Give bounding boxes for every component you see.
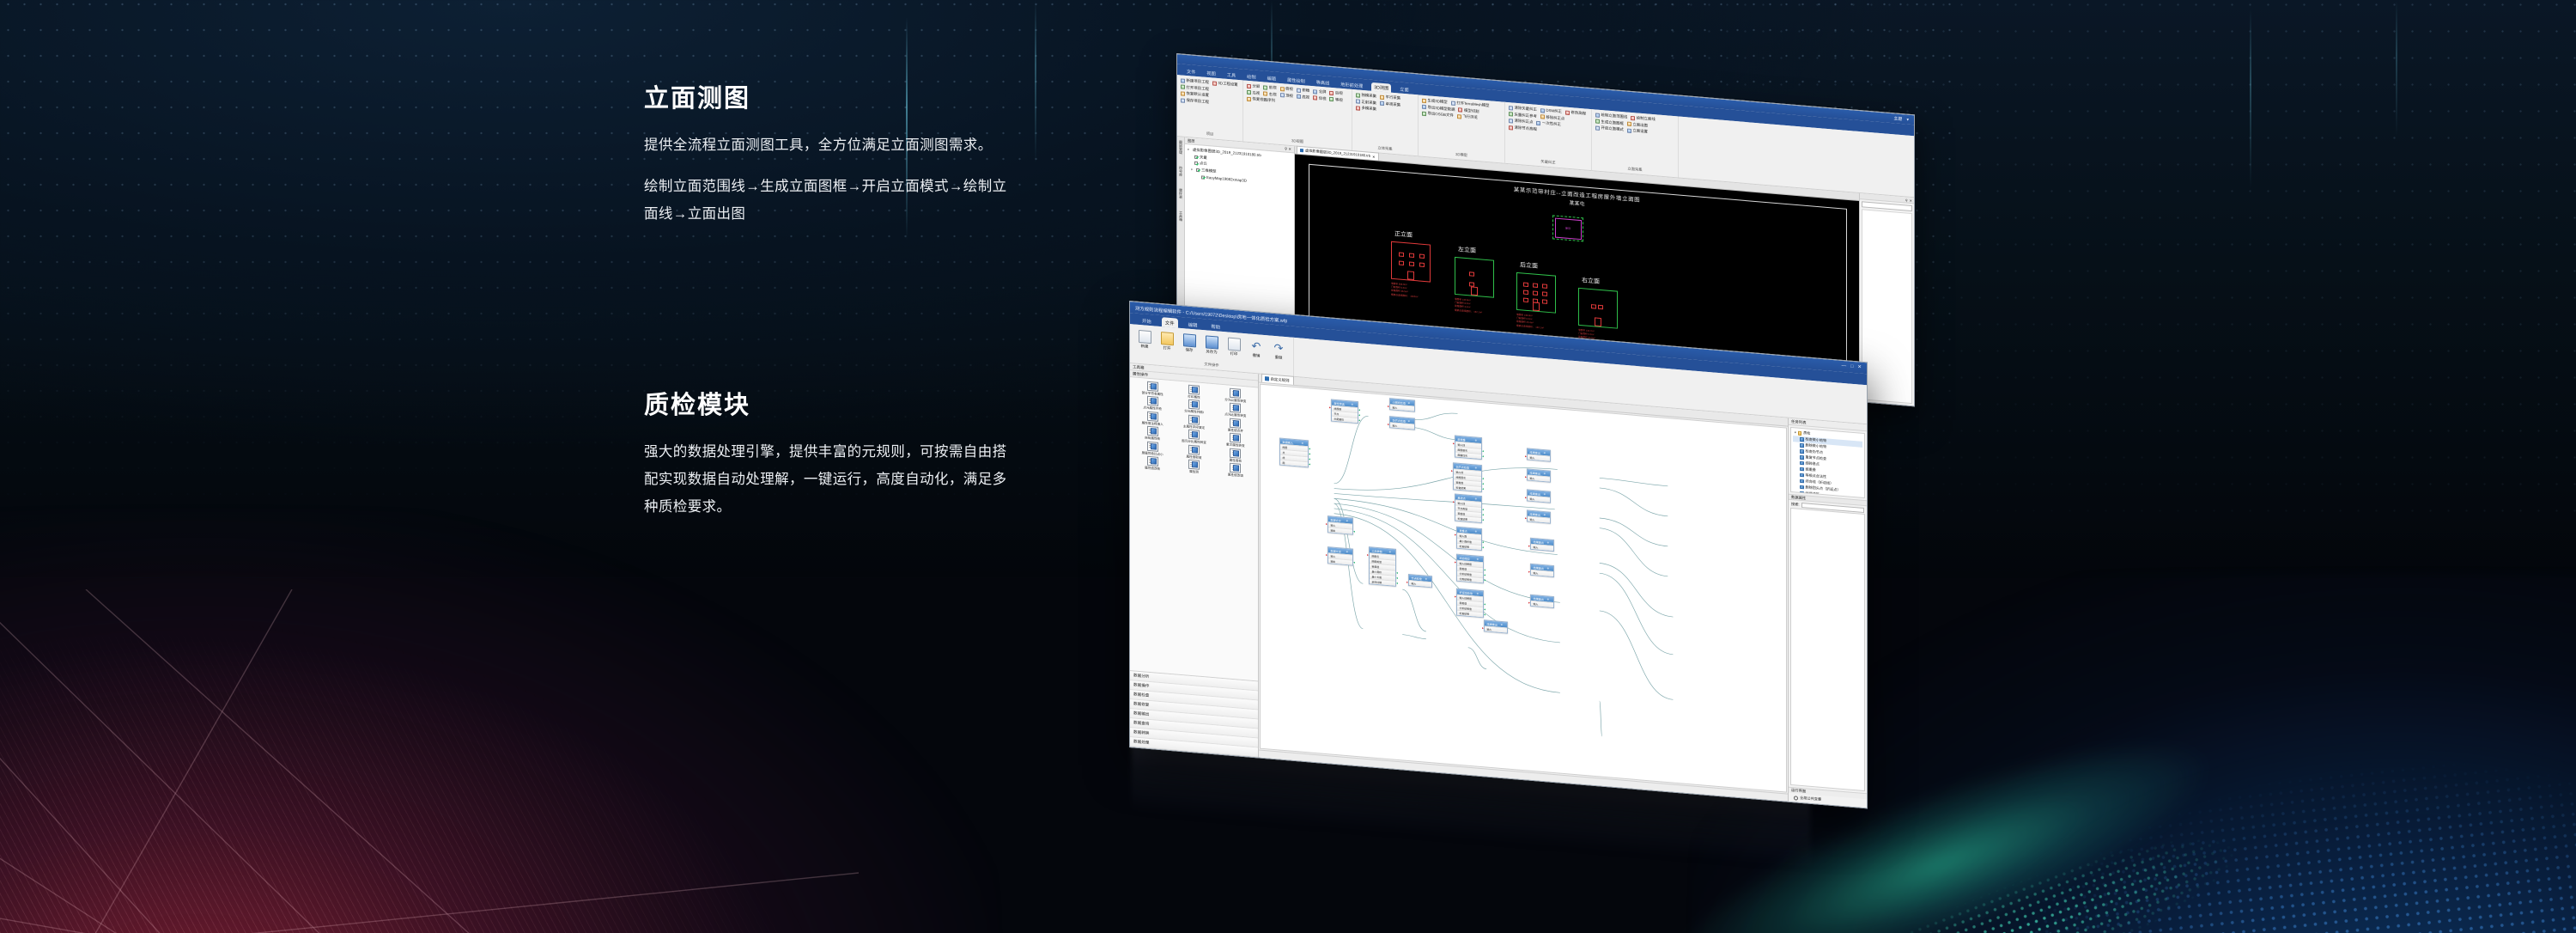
qc-graph-output-port[interactable] <box>1358 409 1360 411</box>
qc-graph-edge <box>1600 563 1674 617</box>
qc-file-button-label: 打开 <box>1163 345 1171 351</box>
qc-graph-edge <box>1600 518 1668 546</box>
qc-graph-output-port[interactable] <box>1482 455 1484 457</box>
qc-graph-edge <box>1402 635 1426 639</box>
close-icon[interactable]: ⊗ <box>1477 592 1479 595</box>
qc-graph-output-port[interactable] <box>1358 419 1360 421</box>
qc-graph-output-port[interactable] <box>1358 414 1360 416</box>
qc-graph-node[interactable]: 结果输出⊗输入 <box>1530 564 1554 577</box>
qc-graph-port-label: 输入 <box>1530 517 1535 521</box>
light-streak <box>2250 9 2251 189</box>
qc-graph-node[interactable]: 结果输出⊗输入 <box>1484 619 1508 633</box>
close-icon[interactable]: ⊗ <box>1475 466 1477 469</box>
qc-graph-node[interactable]: 数据合并⊗输入输出 <box>1327 515 1353 534</box>
file-arrow-icon: ↷ <box>1273 341 1285 355</box>
qc-graph-port-label: 输入 <box>1534 546 1539 549</box>
qc-graph-node[interactable]: 结果输出⊗输入 <box>1527 448 1551 461</box>
qc-run-item-label: 全局公共变量 <box>1800 796 1821 802</box>
qc-window[interactable]: 测方规则流程编辑软件 - C:/Users/19072\Desktop\房地一体… <box>1129 301 1868 808</box>
qc-graph-node[interactable]: 结果输出⊗输入 <box>1527 509 1551 523</box>
close-icon[interactable]: ⊗ <box>1352 402 1353 406</box>
qc-graph-output-port[interactable] <box>1482 541 1484 543</box>
qc-graph-edge <box>1334 498 1364 583</box>
qc-graph-node-port-row[interactable]: 面属性名 <box>1455 452 1481 459</box>
attribute-tool-icon <box>1188 385 1200 395</box>
close-icon[interactable]: ✕ <box>1857 365 1862 370</box>
cad-ribbon-item-label: 俯视 <box>1285 87 1293 93</box>
checkbox[interactable] <box>1196 168 1200 172</box>
qc-toolbox-column: 工具箱 属性操作 部分字符名属性打印属性分元公属性转变点元属性共检分元属性共精I… <box>1130 363 1259 757</box>
qc-graph-node-port-row[interactable]: 输入 <box>1531 544 1553 551</box>
qc-graph-node[interactable]: 重叠点⊗输入面最小面积值检查结果 <box>1456 527 1482 551</box>
qc-graph-output-port[interactable] <box>1482 509 1484 510</box>
cad-ribbon-item-label: 底视 <box>1302 95 1309 101</box>
rule-icon <box>1800 455 1804 460</box>
close-icon[interactable]: ⊗ <box>1346 550 1348 553</box>
qc-graph-node[interactable]: 公共参数⊗图层名图层类型容差值最小面积最小长度采样间隔 <box>1369 546 1396 587</box>
qc-graph-node[interactable]: 数据过滤⊗输入输出 <box>1327 546 1353 565</box>
qc-graph-node[interactable]: 结果输出⊗输入 <box>1527 468 1551 482</box>
close-icon[interactable]: ⊗ <box>1547 540 1549 544</box>
cad-elevation-window <box>1542 284 1547 288</box>
cad-elevation-label: 右立面 <box>1582 276 1600 286</box>
qc-tool-属性值改填[interactable]: 属性值改填 <box>1215 462 1256 479</box>
cad-ribbon-item-label: 后视 <box>1335 90 1343 96</box>
close-icon[interactable]: ⊗ <box>1547 566 1549 570</box>
qc-graph-output-port[interactable] <box>1396 577 1398 579</box>
qc-graph-output-port[interactable] <box>1309 458 1310 460</box>
maximize-icon[interactable]: □ <box>1850 364 1853 369</box>
qc-graph-input-port[interactable] <box>1528 571 1530 573</box>
qc-graph-port-label: 采样间隔 <box>1372 580 1382 584</box>
close-icon[interactable]: ⊗ <box>1544 513 1546 516</box>
cad-ribbon-item[interactable]: 俯瞰 <box>1297 88 1309 95</box>
cad-elevation-window <box>1409 253 1414 257</box>
attribute-tool-icon <box>1188 460 1200 470</box>
qc-graph-output-port[interactable] <box>1482 450 1484 452</box>
cad-ribbon-item-label: 全屏 <box>1319 89 1327 95</box>
qc-graph-output-port[interactable] <box>1482 483 1484 485</box>
attribute-tool-icon <box>1188 399 1200 410</box>
qc-graph-input-port[interactable] <box>1455 534 1456 535</box>
close-icon[interactable]: ✕ <box>1372 154 1375 158</box>
pin-icon[interactable]: ⚲ <box>1905 198 1908 202</box>
qc-graph-node-port-row[interactable]: 输入 <box>1528 516 1550 523</box>
tool-icon <box>1565 110 1570 114</box>
checkbox[interactable] <box>1201 175 1205 179</box>
qc-graph-node[interactable]: 属性筛选⊗线图层节点头尾属性 <box>1331 399 1358 424</box>
rule-icon <box>1800 473 1804 478</box>
qc-graph-output-port[interactable] <box>1484 574 1485 576</box>
cad-ribbon-item[interactable]: 清除节点高程 <box>1509 125 1537 132</box>
cad-ribbon-item[interactable]: 飞行浏览 <box>1457 113 1478 121</box>
cad-ribbon-item[interactable]: 顶视 <box>1280 93 1293 100</box>
close-icon[interactable]: ⊗ <box>1544 451 1546 454</box>
tool-icon <box>1280 87 1285 91</box>
qc-graph-input-port[interactable] <box>1525 497 1527 498</box>
tool-icon <box>1247 84 1251 88</box>
qc-graph-node[interactable]: 结果输出⊗输入 <box>1527 489 1551 503</box>
cad-ribbon-group-立体采集: 独模采集平行采集正射采集单视采集多模采集立体采集 <box>1352 89 1419 155</box>
cad-ribbon-item[interactable]: 俯视 <box>1280 86 1293 93</box>
cad-ribbon-item-label: 恢复视图序列 <box>1253 97 1275 105</box>
qc-node-graph[interactable]: 数据输入⊗图层点线面属性筛选⊗线图层节点头尾属性小图斑检查⊗输入伪节点检查⊗输入… <box>1260 384 1787 793</box>
cad-ribbon-item[interactable]: 单视采集 <box>1380 101 1400 108</box>
close-icon[interactable]: ⊗ <box>1475 497 1477 500</box>
cad-ribbon-item-label: 开启立面模式 <box>1601 125 1624 133</box>
cad-elevation-window <box>1409 261 1414 265</box>
qc-canvas-tab[interactable]: 自定义规则 <box>1261 374 1294 385</box>
qc-graph-output-port[interactable] <box>1353 562 1355 564</box>
qc-graph-node-port-row[interactable]: 输入 <box>1390 404 1414 411</box>
tool-icon <box>1181 78 1185 82</box>
qc-graph-edge <box>1334 413 1369 486</box>
cad-ribbon-item[interactable]: 开启立面模式 <box>1595 125 1624 133</box>
qc-graph-output-port[interactable] <box>1482 478 1484 479</box>
qc-graph-node[interactable]: 结果输出⊗输入 <box>1530 595 1554 608</box>
tool-icon <box>1631 116 1635 120</box>
qc-tool-label: 属性值改检 <box>1145 466 1160 472</box>
cad-ribbon-item-label: 仰视 <box>1319 95 1327 101</box>
cad-roof-label: 屋顶 <box>1565 227 1571 230</box>
qc-graph-port-label: 输入 <box>1412 582 1417 585</box>
cad-ribbon-group-3D模型: 生成3D模型打开TerraMesh模型导出3D模型数据模型切割导出OSGB文件飞… <box>1419 95 1505 162</box>
close-icon[interactable]: ⊗ <box>1475 529 1477 533</box>
qc-search-label: 搜索: <box>1791 501 1800 507</box>
cad-ribbon-item-label: 前视 <box>1269 85 1277 91</box>
qc-graph-node[interactable]: 悬挂点⊗输入线节点类型容差值检查结果 <box>1455 493 1482 523</box>
cad-ribbon-item[interactable]: 仰视 <box>1313 95 1326 102</box>
file-arrow-icon: ↶ <box>1250 339 1263 353</box>
qc-file-button-label: 打印 <box>1230 351 1238 357</box>
file-doc-icon <box>1139 330 1151 344</box>
qc-file-button-新建[interactable]: 新建 <box>1133 326 1156 350</box>
qc-graph-node-port-row[interactable]: 输入 <box>1531 601 1553 607</box>
qc-graph-node-port-row[interactable]: 输入 <box>1528 475 1550 482</box>
qc-graph-port-label: 检查结果 <box>1458 516 1468 521</box>
tool-icon <box>1313 96 1317 101</box>
cad-ribbon-item-label: 导出OSGB文件 <box>1428 111 1454 119</box>
qc-graph-output-port[interactable] <box>1482 488 1484 490</box>
qc-graph-node-port-row[interactable]: 输出 <box>1328 527 1352 534</box>
qc-graph-input-port[interactable] <box>1367 554 1369 556</box>
cad-elevation-notes: 墙面积 136.8m²门窗面积 0.0m²屋檐面积 20.4m²需要改造墙面积：… <box>1516 314 1544 330</box>
qc-graph-node-port-row[interactable]: 检查结果 <box>1457 610 1483 617</box>
tool-icon <box>1595 119 1600 124</box>
qc-graph-edge <box>1600 701 1602 736</box>
qc-graph-output-port[interactable] <box>1484 613 1485 615</box>
qc-graph-node[interactable]: 线自相交⊗输入线图层容差值分析结果值分类结果值 <box>1456 554 1484 584</box>
tool-icon <box>1313 89 1317 94</box>
tool-icon <box>1247 90 1251 95</box>
qc-graph-node-port-row[interactable]: 输入 <box>1528 454 1550 461</box>
qc-property-content[interactable] <box>1790 508 1865 791</box>
tool-icon <box>1458 108 1462 113</box>
cad-elevation-window <box>1469 271 1474 276</box>
qc-graph-node[interactable]: 伪节点检查⊗输入线线图层名容差值检查结果 <box>1453 462 1482 492</box>
qc-graph-port-label: 输入 <box>1534 602 1539 606</box>
qc-graph-input-port[interactable] <box>1455 595 1456 597</box>
qc-file-button-打印[interactable]: 打印 <box>1223 334 1245 357</box>
qc-graph-output-port[interactable] <box>1484 569 1485 570</box>
qc-graph-edge <box>1334 451 1558 507</box>
qc-graph-output-port[interactable] <box>1484 579 1485 581</box>
qc-graph-edge <box>1600 488 1668 516</box>
qc-body: 工具箱 属性操作 部分字符名属性打印属性分元公属性转变点元属性共检分元属性共精I… <box>1130 363 1867 808</box>
file-save-icon <box>1206 335 1218 349</box>
minimize-icon[interactable]: — <box>1842 364 1847 369</box>
qc-graph-node-port-row[interactable]: 输入 <box>1531 570 1553 576</box>
qc-graph-input-port[interactable] <box>1388 424 1389 425</box>
attribute-tool-icon <box>1188 415 1200 425</box>
tool-icon <box>1540 108 1545 113</box>
tool-icon <box>1263 85 1267 89</box>
qc-graph-input-port[interactable] <box>1453 442 1455 444</box>
tool-icon <box>1181 85 1185 89</box>
rule-icon <box>1800 467 1804 472</box>
qc-graph-output-port[interactable] <box>1482 514 1484 515</box>
qc-graph-output-port[interactable] <box>1396 572 1398 574</box>
qc-graph-input-port[interactable] <box>1528 602 1530 604</box>
rule-icon <box>1800 461 1804 466</box>
cad-ribbon-item[interactable]: 立面设置 <box>1627 128 1648 136</box>
cad-elevation-door <box>1471 286 1478 296</box>
qc-graph-node-port-row[interactable]: 检查结果 <box>1454 484 1481 491</box>
qc-graph-input-port[interactable] <box>1453 501 1455 503</box>
close-icon[interactable]: ⊗ <box>1302 442 1303 445</box>
cad-ribbon-item-label: 顶视 <box>1285 93 1293 99</box>
cad-ribbon-item[interactable]: 前视 <box>1263 84 1276 91</box>
qc-graph-node-port-row[interactable]: 输入 <box>1485 625 1507 632</box>
qc-graph-output-port[interactable] <box>1482 546 1484 548</box>
qc-file-button-label: 另存为 <box>1206 349 1217 355</box>
cad-elevation-window <box>1399 252 1404 256</box>
cad-ribbon-item[interactable]: 左视 <box>1247 89 1260 96</box>
qc-graph-output-port[interactable] <box>1484 603 1485 605</box>
side-tab-tools[interactable]: 工具箱 <box>1178 210 1183 221</box>
cad-ribbon-item-label: 分屏 <box>1253 83 1261 89</box>
qc-graph-output-port[interactable] <box>1353 531 1355 533</box>
qc-graph-port-label: 输入 <box>1393 406 1398 409</box>
cad-ribbon-item[interactable]: 后视 <box>1329 90 1342 97</box>
cad-right-panel-content[interactable] <box>1862 209 1912 404</box>
qc-tool-属性测[interactable]: 属性测 <box>1173 459 1214 476</box>
qc-graph-port-label: 面 <box>1283 460 1285 464</box>
close-icon[interactable]: ⊗ <box>1544 472 1546 475</box>
qc-graph-edge <box>1600 611 1674 699</box>
cad-ribbon-group-矢量纠正: 清除矢量纠正DSM纠正修改高程矢量纠正参考移除纠正点清除纠正点一次性纠正清除节点… <box>1505 102 1592 170</box>
attribute-tool-icon <box>1230 403 1241 413</box>
close-icon[interactable]: ⊗ <box>1408 401 1410 405</box>
tool-icon <box>1422 112 1426 116</box>
qc-graph-edge <box>1410 427 1457 440</box>
file-folder-icon <box>1161 332 1174 345</box>
tool-icon <box>1451 101 1455 105</box>
side-tab-props[interactable]: 属性表 <box>1178 188 1183 198</box>
cad-elevation-door <box>1407 271 1414 280</box>
qc-graph-input-port[interactable] <box>1388 406 1389 407</box>
feature-workflow: 绘制立面范围线→生成立面图框→开启立面模式→绘制立面线→立面出图 <box>644 173 1013 228</box>
qc-task-tree[interactable]: ▾质检检查微小地物删除微小地物检查伪节点重复节点检查细碎悬点面重叠等根点合法性闭… <box>1790 427 1865 498</box>
window-controls[interactable]: — □ ✕ <box>1842 364 1862 370</box>
tool-icon <box>1627 129 1631 133</box>
close-icon[interactable]: ⊗ <box>1544 492 1546 496</box>
close-icon[interactable]: ⊗ <box>1477 558 1479 561</box>
cad-ribbon-item[interactable]: 导出OSGB文件 <box>1422 111 1454 119</box>
tool-icon <box>1509 113 1513 117</box>
cad-ribbon-item[interactable]: 多模采集 <box>1356 106 1376 113</box>
close-icon[interactable]: ⊗ <box>1408 419 1410 423</box>
feature-block-elevation: 立面测图 提供全流程立面测图工具，全方位满足立面测图需求。 绘制立面范围线→生成… <box>644 84 1022 228</box>
qc-graph-input-port[interactable] <box>1406 582 1408 583</box>
checkbox[interactable] <box>1194 155 1198 158</box>
cad-ribbon-item[interactable]: 等视 <box>1329 96 1342 103</box>
qc-file-button-打开[interactable]: 打开 <box>1156 329 1178 352</box>
qc-graph-input-port[interactable] <box>1525 517 1527 519</box>
close-icon[interactable]: ⊗ <box>1501 623 1503 626</box>
cad-elevation-window <box>1542 299 1547 303</box>
chevron-down-icon[interactable]: ▾ <box>1906 117 1909 122</box>
qc-graph-node-port-row[interactable]: 头尾属性 <box>1332 416 1358 423</box>
qc-graph-input-port[interactable] <box>1528 546 1530 547</box>
tool-icon <box>1457 114 1461 119</box>
cad-ribbon-item-label: 多模采集 <box>1362 106 1377 113</box>
close-icon[interactable]: ⊗ <box>1425 577 1427 581</box>
attribute-tool-icon <box>1147 412 1158 422</box>
cad-ribbon-item-label: 飞行浏览 <box>1462 114 1478 121</box>
qc-file-button-label: 重做 <box>1275 355 1283 361</box>
qc-graph-node-port-row[interactable]: 输入 <box>1409 580 1431 587</box>
close-icon[interactable]: ⊗ <box>1389 550 1391 553</box>
qc-graph-port-label: 输入 <box>1530 455 1535 459</box>
cad-ribbon-item[interactable]: 分屏 <box>1247 83 1260 90</box>
cad-elevation-window <box>1523 290 1528 295</box>
qc-graph-output-port[interactable] <box>1482 519 1484 521</box>
qc-graph-input-port[interactable] <box>1326 523 1327 525</box>
attribute-tool-icon <box>1230 418 1241 429</box>
qc-category-list[interactable]: 数据分析数据操作数据检查数据修复数据输出数据查询数据转换数据处理 <box>1130 670 1258 757</box>
qc-graph-input-port[interactable] <box>1525 455 1527 457</box>
tool-icon <box>1212 81 1217 85</box>
qc-graph-input-port[interactable] <box>1455 561 1456 563</box>
cad-ribbon-item-label: 右视 <box>1269 92 1277 98</box>
tool-icon <box>1181 98 1185 102</box>
cad-ribbon-item[interactable]: 保存项目工程 <box>1181 97 1209 105</box>
qc-graph-node[interactable]: 小图斑检查⊗输入 <box>1389 398 1415 412</box>
qc-graph-output-port[interactable] <box>1484 608 1485 610</box>
tool-icon <box>1380 95 1384 99</box>
qc-graph-node-port-row[interactable]: 输入 <box>1390 422 1414 429</box>
qc-file-button-label: 新建 <box>1141 344 1149 350</box>
attribute-tool-icon <box>1230 448 1241 459</box>
qc-graph-input-port[interactable] <box>1451 470 1453 472</box>
cad-ribbon-group-项目: 新建项目工程3D工程设置打开项目工程恢复默认设置保存项目工程项目 <box>1177 75 1243 141</box>
qc-tool-属性值改检[interactable]: 属性值改检 <box>1132 455 1173 473</box>
attribute-tool-icon <box>1230 388 1241 399</box>
qc-graph-output-port[interactable] <box>1309 448 1310 449</box>
qc-graph-output-port[interactable] <box>1309 453 1310 454</box>
document-icon <box>1300 149 1303 152</box>
qc-graph-node[interactable]: 结果输出⊗输入 <box>1530 538 1554 552</box>
qc-graph-node[interactable]: 折返线检查⊗输入线图层容差值分析结果值检查结果 <box>1456 588 1484 619</box>
cad-theme-label[interactable]: 主题 <box>1893 115 1902 122</box>
cad-ribbon-item[interactable]: 恢复视图序列 <box>1247 96 1275 104</box>
side-tab-layers[interactable]: 图层管理 <box>1178 140 1183 154</box>
feature-title: 质检模块 <box>644 391 1022 421</box>
qc-file-button-另存为[interactable]: 另存为 <box>1200 332 1223 356</box>
feature-title: 立面测图 <box>644 84 1022 114</box>
cad-ribbon-item[interactable]: 全屏 <box>1313 88 1326 95</box>
cad-ribbon-item-label: 保存项目工程 <box>1187 98 1209 106</box>
qc-graph-node[interactable]: 伪节点检查⊗输入 <box>1389 416 1415 430</box>
qc-graph-output-port[interactable] <box>1309 463 1310 465</box>
qc-graph-output-port[interactable] <box>1396 582 1398 584</box>
close-icon[interactable]: ⊗ <box>1475 438 1477 442</box>
qc-graph-port-label: 检查结果 <box>1456 485 1467 490</box>
rule-icon <box>1800 479 1804 484</box>
qc-file-button-撤销[interactable]: ↶撤销 <box>1245 336 1267 359</box>
qc-tool-label: 属性测 <box>1189 470 1199 474</box>
qc-graph-edge <box>1600 573 1674 655</box>
pin-close-icons[interactable]: ⚲ ✕ <box>1285 146 1291 152</box>
cad-elevation-label: 左立面 <box>1458 245 1476 255</box>
rule-icon <box>1800 449 1804 454</box>
qc-graph-input-port[interactable] <box>1326 554 1327 556</box>
close-icon[interactable]: ✕ <box>1910 198 1912 202</box>
qc-graph-input-port[interactable] <box>1482 627 1484 629</box>
chevron-down-icon[interactable]: ▾ <box>1795 430 1796 436</box>
close-icon[interactable]: ⊗ <box>1547 597 1549 601</box>
cad-ribbon-item[interactable]: 一次性纠正 <box>1536 120 1560 128</box>
cad-ribbon-item[interactable]: 3D工程设置 <box>1212 80 1238 88</box>
qc-graph-edge <box>1410 410 1457 424</box>
qc-graph-node[interactable]: 节点检查⊗输入 <box>1408 574 1432 588</box>
qc-graph-input-port[interactable] <box>1525 476 1527 478</box>
qc-graph-node-port-row[interactable]: 面 <box>1280 460 1308 467</box>
qc-graph-port-label: 输入 <box>1487 627 1492 631</box>
qc-file-button-保存[interactable]: 保存 <box>1178 331 1200 354</box>
qc-graph-node[interactable]: 面重叠⊗输入线面图层名面属性名 <box>1455 435 1482 460</box>
cad-elevation-window <box>1542 291 1547 296</box>
qc-file-button-重做[interactable]: ↷重做 <box>1267 338 1290 361</box>
side-tab-symbols[interactable]: 符号库 <box>1178 166 1183 176</box>
chevron-down-icon[interactable]: ▾ <box>1188 147 1191 153</box>
qc-tool-grid[interactable]: 部分字符名属性打印属性分元公属性转变点元属性共检分元属性共精I点元比属性转变属性… <box>1130 377 1258 680</box>
qc-graph-node[interactable]: 数据输入⊗图层点线面 <box>1279 438 1309 468</box>
tool-icon <box>1280 93 1285 97</box>
checkbox[interactable] <box>1194 162 1198 165</box>
qc-graph-node-port-row[interactable]: 检查结果 <box>1455 515 1481 522</box>
qc-graph-edge <box>1600 478 1668 486</box>
qc-graph-port-label: 面属性名 <box>1458 453 1468 457</box>
qc-canvas-tab-label: 自定义规则 <box>1271 376 1290 383</box>
qc-graph-node-port-row[interactable]: 分类结果值 <box>1457 576 1483 582</box>
cad-ribbon-item[interactable]: 底视 <box>1297 94 1309 101</box>
qc-graph-node-port-row[interactable]: 检查结果 <box>1457 543 1481 550</box>
cad-ribbon-item[interactable]: 修改高程 <box>1565 110 1586 118</box>
close-icon[interactable]: ⊗ <box>1346 519 1348 522</box>
cad-elevation-window <box>1533 290 1538 295</box>
qc-graph-node-port-row[interactable]: 输出 <box>1328 558 1352 564</box>
attribute-tool-icon <box>1188 445 1200 455</box>
qc-graph-input-port[interactable] <box>1329 406 1331 408</box>
qc-graph-node-port-row[interactable]: 采样间隔 <box>1370 578 1395 585</box>
cad-ribbon-item-label: 一次性纠正 <box>1542 121 1561 128</box>
qc-graph-node-port-row[interactable]: 输入 <box>1528 496 1550 503</box>
chevron-down-icon[interactable]: ▾ <box>1191 167 1194 173</box>
cad-roof-plan: 屋顶 <box>1552 215 1583 241</box>
qc-right-column: 任务列表 ▾质检检查微小地物删除微小地物检查伪节点重复节点检查细碎悬点面重叠等根… <box>1788 418 1867 808</box>
